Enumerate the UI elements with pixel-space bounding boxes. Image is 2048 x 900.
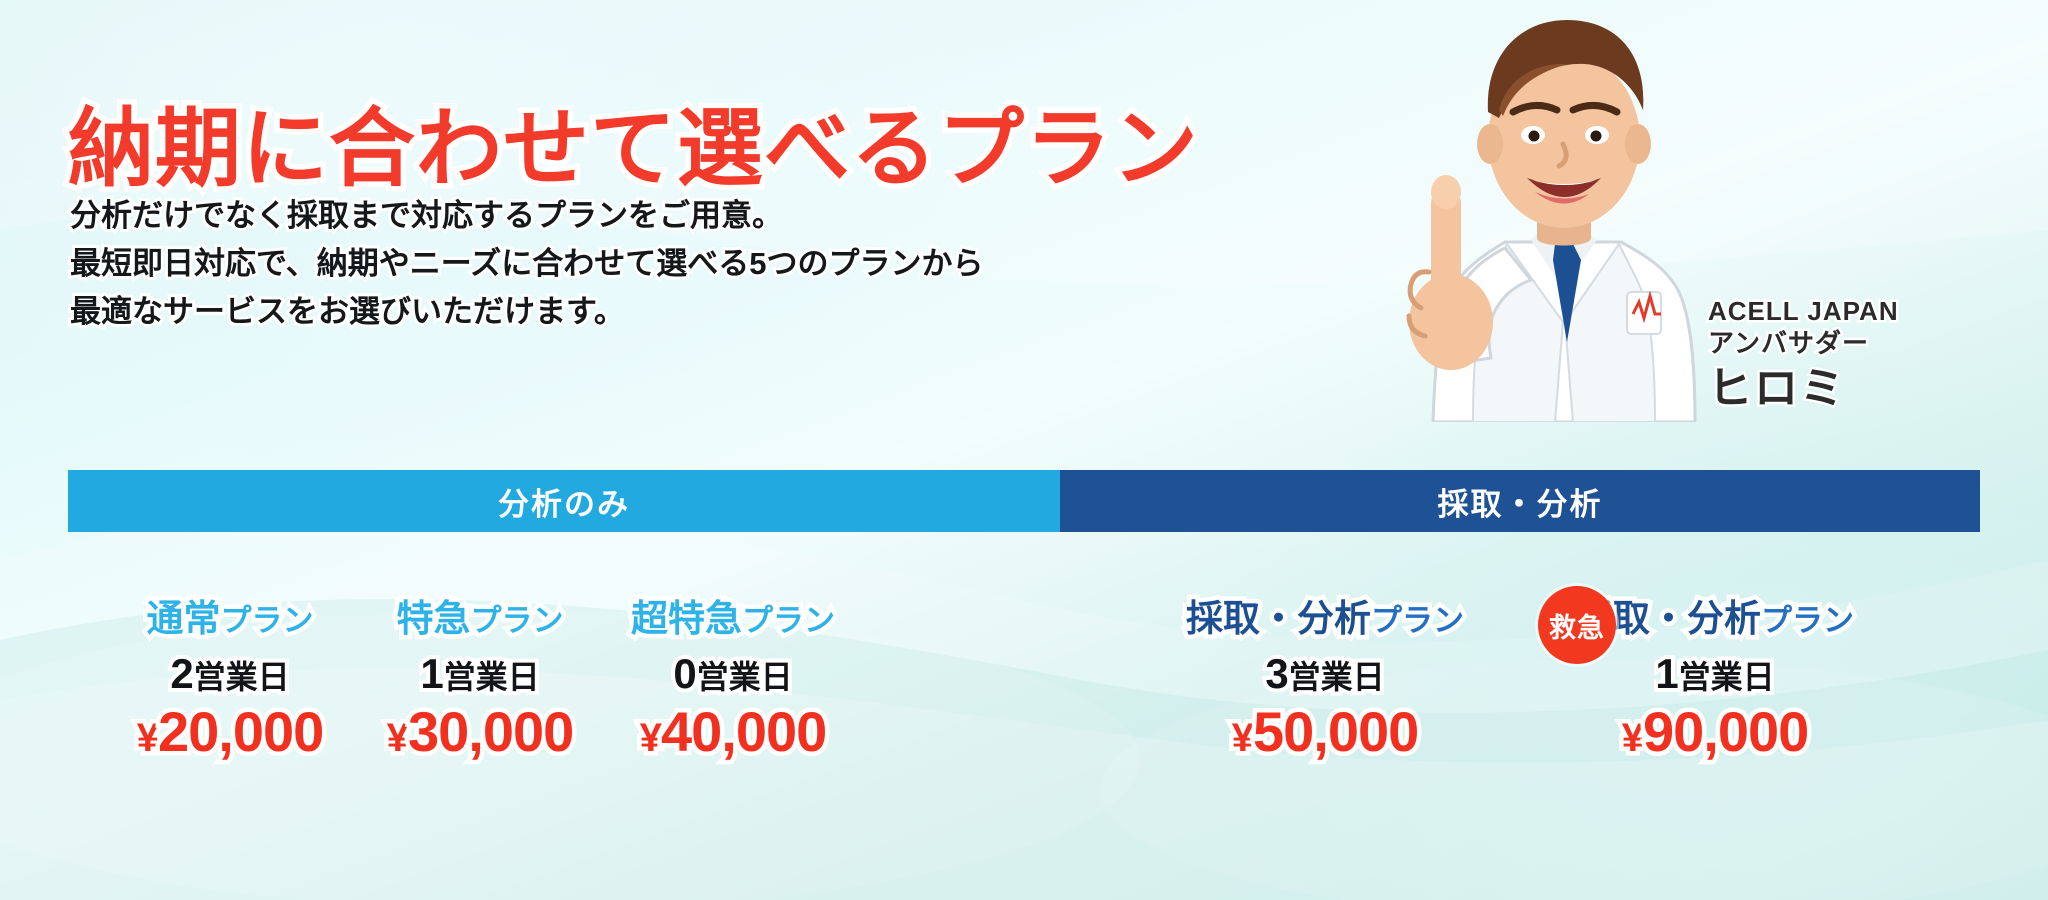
plan-price: ¥90,000 [1500, 701, 1930, 769]
currency-symbol: ¥ [1622, 716, 1643, 760]
plan-price-value: 20,000 [158, 700, 323, 763]
plan-days-unit: 営業日 [1679, 659, 1775, 695]
tab-analysis-only[interactable]: 分析のみ [68, 470, 1060, 532]
plan-price: ¥40,000 [568, 701, 898, 769]
plan-price-value: 90,000 [1643, 700, 1808, 763]
plan-turnaround: 0営業日 [568, 654, 898, 697]
plan-title-main: 通常 [147, 598, 221, 639]
lead-line-1: 分析だけでなく採取まで対応するプランをご用意。 [70, 192, 983, 240]
plan-card-super-express[interactable]: 超特急プラン 0営業日 ¥40,000 [568, 596, 898, 769]
lead-line-3: 最適なサービスをお選びいただけます。 [70, 288, 983, 336]
ambassador-name: ヒロミ [1708, 362, 1899, 416]
plan-price-value: 30,000 [408, 700, 573, 763]
plan-days-unit: 営業日 [697, 659, 793, 695]
plan-title-main: 特急 [397, 598, 471, 639]
ambassador-role: アンバサダー [1708, 326, 1899, 360]
tab-collection-analysis[interactable]: 採取・分析 [1060, 470, 1980, 532]
plan-title-main: 採取・分析 [1186, 598, 1371, 639]
page-title: 納期に合わせて選べるプラン [68, 78, 1199, 203]
plan-title-kana: プラン [471, 603, 564, 638]
plan-title-kana: プラン [1371, 603, 1464, 638]
category-tabbar: 分析のみ 採取・分析 [68, 470, 1980, 532]
emergency-badge: 救急 [1538, 586, 1616, 664]
plan-title-main: 超特急 [631, 598, 742, 639]
plan-list: 通常プラン 2営業日 ¥20,000 特急プラン 1営業日 ¥30,000 超特… [0, 596, 2048, 856]
plan-days-unit: 営業日 [194, 659, 290, 695]
lead-line-2: 最短即日対応で、納期やニーズに合わせて選べる5つのプランから [70, 240, 983, 288]
plan-days-number: 2 [170, 650, 193, 697]
lead-paragraph: 分析だけでなく採取まで対応するプランをご用意。 最短即日対応で、納期やニーズに合… [70, 192, 983, 336]
plan-title-kana: プラン [742, 603, 835, 638]
plan-days-unit: 営業日 [1289, 659, 1385, 695]
currency-symbol: ¥ [387, 716, 408, 760]
plan-card-collection-analysis[interactable]: 採取・分析プラン 3営業日 ¥50,000 [1110, 596, 1540, 769]
currency-symbol: ¥ [640, 716, 661, 760]
plan-title-kana: プラン [1761, 603, 1854, 638]
ambassador-org: ACELL JAPAN [1708, 296, 1899, 326]
currency-symbol: ¥ [1232, 716, 1253, 760]
promo-banner: 納期に合わせて選べるプラン 分析だけでなく採取まで対応するプランをご用意。 最短… [0, 0, 2048, 900]
plan-title: 採取・分析プラン [1110, 596, 1540, 644]
plan-days-unit: 営業日 [444, 659, 540, 695]
plan-days-number: 0 [673, 650, 696, 697]
plan-title-kana: プラン [221, 603, 314, 638]
plan-price-value: 40,000 [661, 700, 826, 763]
plan-price-value: 50,000 [1253, 700, 1418, 763]
plan-title: 超特急プラン [568, 596, 898, 644]
plan-price: ¥50,000 [1110, 701, 1540, 769]
ambassador-caption: ACELL JAPAN アンバサダー ヒロミ [1708, 296, 1899, 416]
plan-days-number: 1 [1655, 650, 1678, 697]
plan-days-number: 1 [420, 650, 443, 697]
plan-days-number: 3 [1265, 650, 1288, 697]
plan-turnaround: 3営業日 [1110, 654, 1540, 697]
currency-symbol: ¥ [137, 716, 158, 760]
